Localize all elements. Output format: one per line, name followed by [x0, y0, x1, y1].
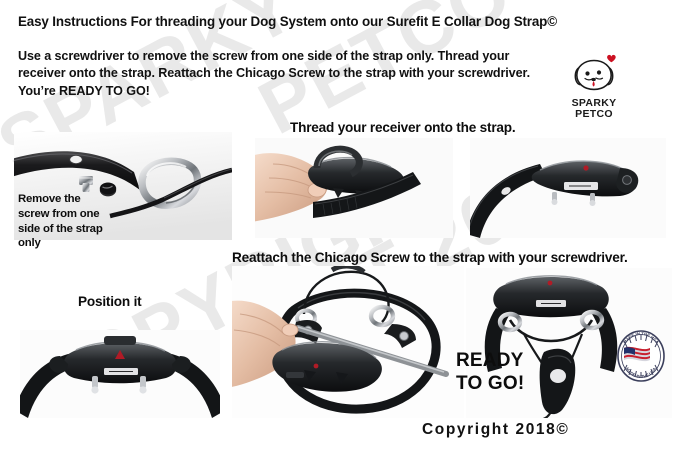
heart-icon: [607, 55, 616, 62]
caption-ready-line1: READY: [456, 350, 524, 372]
caption-thread-receiver: Thread your receiver onto the strap.: [290, 120, 515, 135]
caption-position-it: Position it: [78, 294, 142, 309]
panel-thread-receiver-photo: [255, 138, 453, 238]
sparky-petco-logo: SPARKY PETCO: [558, 52, 630, 120]
panel-position-it-photo: [20, 330, 220, 418]
instruction-sheet: SPARKY PETCO COPYRIGHT HT 20 Easy Instru…: [0, 0, 679, 450]
panel-receiver-mounted: [470, 138, 666, 238]
caption-remove-screw: Remove the screw from one side of the st…: [18, 192, 110, 251]
made-in-usa-badge: MADE IN THE USA MADE IN THE USA: [615, 328, 667, 384]
caption-ready-line2: TO GO!: [456, 373, 524, 395]
logo-line-2: PETCO: [558, 109, 630, 120]
dog-face-icon: [558, 52, 630, 98]
page-title: Easy Instructions For threading your Dog…: [18, 14, 668, 29]
panel-position-it: [20, 330, 220, 418]
panel-reattach-screw-photo: [232, 266, 464, 418]
caption-reattach-screw: Reattach the Chicago Screw to the strap …: [232, 250, 628, 265]
panel-receiver-mounted-photo: [470, 138, 666, 238]
copyright-text: Copyright 2018©: [422, 421, 569, 439]
instructions-paragraph: Use a screwdriver to remove the screw fr…: [18, 48, 548, 100]
panel-reattach-screw: [232, 266, 464, 418]
panel-thread-receiver: [255, 138, 453, 238]
